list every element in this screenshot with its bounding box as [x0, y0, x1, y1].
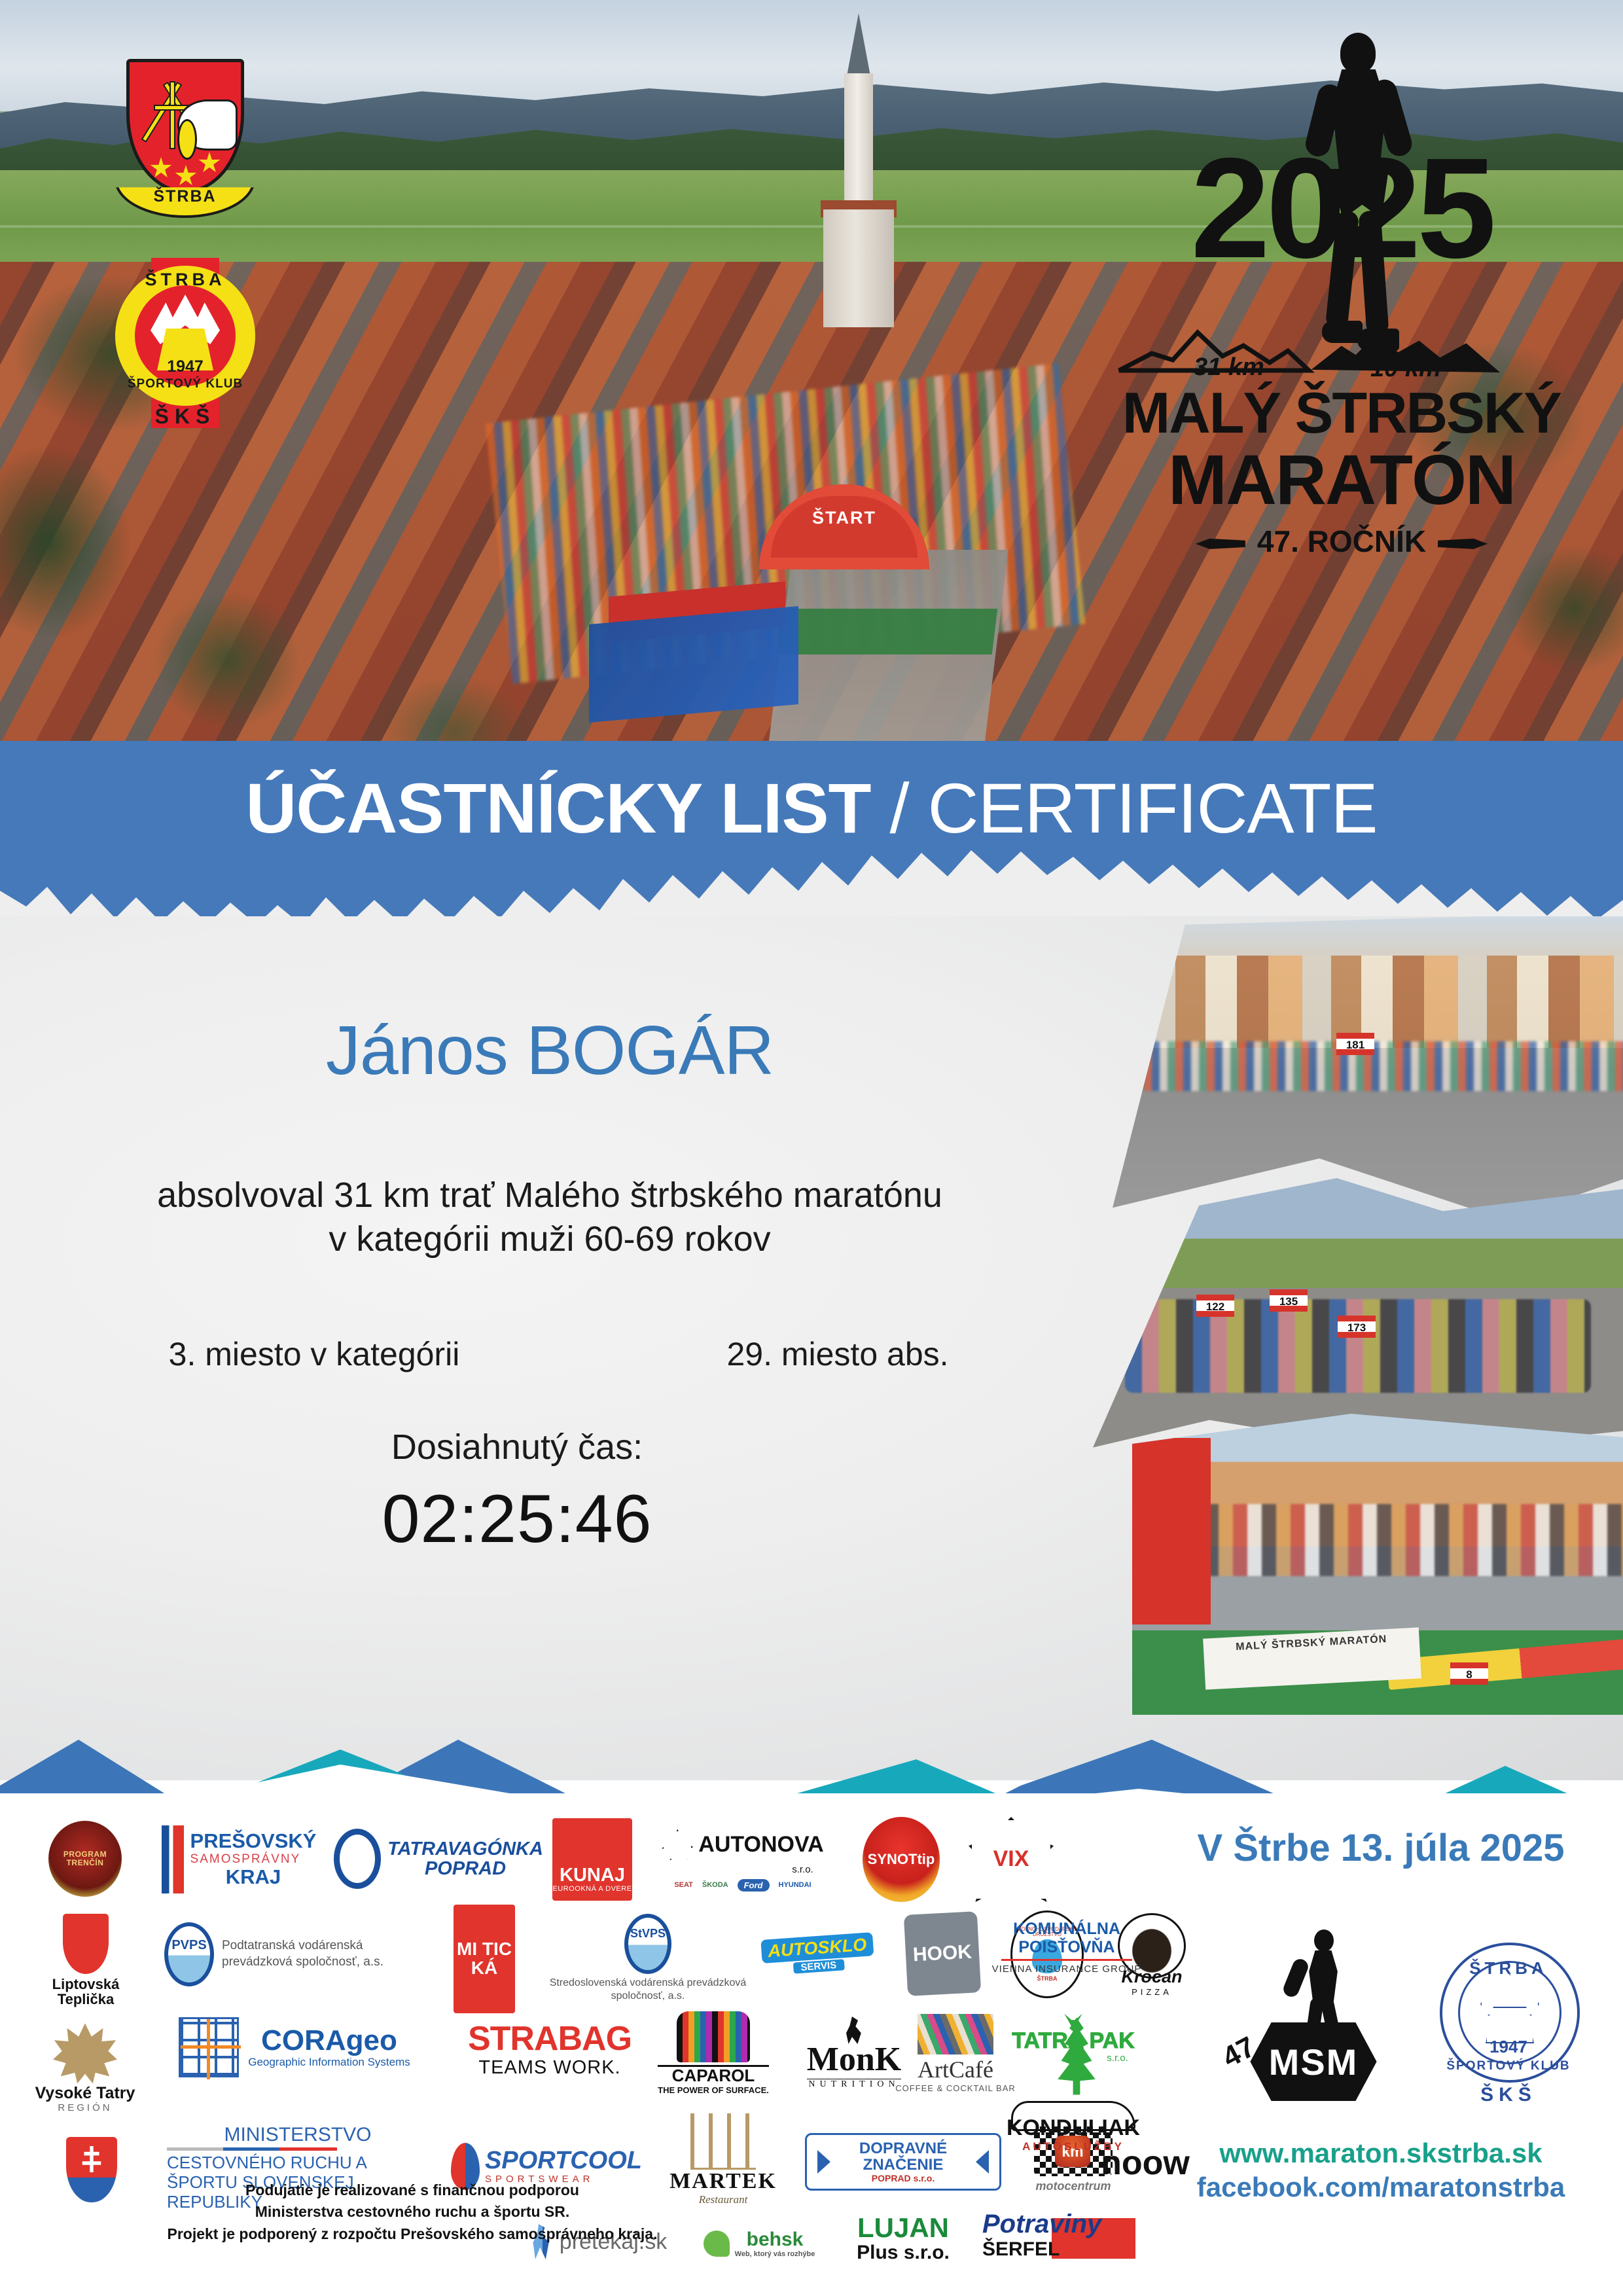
- sponsor-sub: SAMOSPRÁVNY: [190, 1852, 317, 1867]
- sponsor-name: TATRA PAK: [1012, 2030, 1135, 2053]
- sponsor-sub: Teplička: [52, 1992, 120, 2007]
- sponsor-sub: REGIÓN: [35, 2102, 135, 2113]
- sponsor-logo-hook: HOOK: [897, 1911, 988, 1996]
- bib-number: 173: [1338, 1316, 1376, 1338]
- church-spire: [847, 13, 870, 76]
- sponsor-sub: AUTOSLUŽBY: [1007, 2140, 1140, 2153]
- event-edition-label: 47. ROČNÍK: [1257, 524, 1426, 558]
- sponsor-name: KUNAJ: [560, 1865, 625, 1885]
- sponsor-name: TATRAVAGÓNKA: [387, 1839, 543, 1859]
- arrow-left-icon: [976, 2150, 989, 2174]
- arrow-right-icon: [817, 2150, 830, 2174]
- sponsor-logo-vysoke-tatry: Vysoké Tatry REGIÓN: [33, 2016, 137, 2121]
- jagged-divider-bottom: [0, 850, 1623, 925]
- title-separator: /: [870, 768, 927, 848]
- sponsor-logo-kunaj: KUNAJ EUROOKNÁ A DVERE: [550, 1817, 635, 1902]
- footer-right-column: V Štrbe 13. júla 2025 47. MSM ŠTRBA 1947…: [1178, 1800, 1597, 2284]
- sponsor-name: CAPAROL: [658, 2065, 769, 2085]
- race-photo-collage: MALÝ ŠTRBSKÝ MARATÓN 181 122 135 173 8: [1073, 916, 1623, 1780]
- sponsor-sub: EUROOKNÁ A DVERE: [552, 1885, 632, 1893]
- sponsor-name: Potraviny: [982, 2210, 1101, 2238]
- church-nave: [823, 209, 894, 327]
- event-year: 2025: [1113, 151, 1571, 268]
- sponsor-sub: Podtatranská vodárenská prevádzková spol…: [222, 1938, 412, 1970]
- sponsor-logo-pvps: PVPS Podtatranská vodárenská prevádzková…: [151, 1915, 425, 1994]
- funding-note-line-3: Projekt je podporený z rozpočtu Prešovsk…: [79, 2223, 746, 2245]
- sponsor-name: CORAgeo: [248, 2026, 410, 2056]
- event-name-line2: MARATÓN: [1113, 439, 1571, 520]
- sponsor-sub: PIZZA: [1118, 1987, 1186, 1997]
- arrow-left-icon: [1196, 539, 1245, 549]
- sponsor-sub: POPRAD s.r.o.: [837, 2173, 969, 2183]
- sponsor-name: MI TIC KÁ: [454, 1940, 515, 1977]
- sponsor-logo-tatrapak: TATRA PAK s.r.o.: [995, 2003, 1152, 2075]
- event-name-line1: MALÝ ŠTRBSKÝ: [1113, 380, 1571, 446]
- stamp-bottom-label: ŠKŠ: [1420, 2084, 1597, 2106]
- certificate-body: János BOGÁR absolvoval 31 km trať Malého…: [0, 916, 1623, 1780]
- sponsor-logo-tatravagonka: TATRAVAGÓNKA POPRAD: [340, 1821, 537, 1897]
- brand-ford: Ford: [738, 1879, 770, 1892]
- sponsor-name: KOMUNÁLNA POISŤOVŇA: [982, 1920, 1152, 1956]
- sponsor-sub: s.r.o.: [1012, 2053, 1135, 2064]
- bib-number: 181: [1336, 1033, 1374, 1055]
- event-date: V Štrbe 13. júla 2025: [1178, 1826, 1584, 1870]
- ministry-rule: [167, 2147, 337, 2151]
- event-edition-row: 47. ROČNÍK: [1113, 524, 1571, 559]
- sponsor-sub: Geographic Information Systems: [248, 2056, 410, 2069]
- brand-skoda: ŠKODA: [702, 1881, 728, 1889]
- crest-cuff-icon: [177, 119, 197, 160]
- brand-hyundai: HYUNDAI: [779, 1881, 811, 1889]
- sponsor-logo-lujan-plus: LUJAN Plus s.r.o.: [844, 2206, 962, 2271]
- sponsor-sub: Plus s.r.o.: [857, 2242, 950, 2263]
- sponsor-logo-potraviny-serfel: Potraviny ŠERFEL: [975, 2206, 1139, 2271]
- sponsor-logo-corageo: CORAgeo Geographic Information Systems: [151, 2008, 438, 2087]
- corageo-grid-icon: [179, 2017, 239, 2077]
- sponsor-logo-autosklo-servis: AUTOSKLO SERVIS: [753, 1915, 883, 1994]
- artcafe-stripes-icon: [918, 2014, 993, 2054]
- sponsor-sub: VIENNA INSURANCE GROUP: [982, 1964, 1152, 1975]
- sponsor-name: DOPRAVNÉ ZNAČENIE: [837, 2140, 969, 2173]
- stamp-top-label: ŠTRBA: [1420, 1958, 1597, 1979]
- funding-note-line-1: Podujatie je realizované s finančnou pod…: [79, 2179, 746, 2201]
- sponsor-logo-presovsky-kraj: PREŠOVSKÝ SAMOSPRÁVNY KRAJ: [151, 1818, 327, 1901]
- stamp-year-label: 1947: [1420, 2037, 1597, 2057]
- sponsor-sub: Web, ktorý vás rozhýbe: [735, 2250, 815, 2258]
- arrow-right-icon: [1438, 539, 1488, 549]
- sponsor-sub: POPRAD: [387, 1859, 543, 1878]
- kp-rule: [1001, 1959, 1132, 1961]
- cutlery-icon: [690, 2113, 756, 2170]
- sponsor-logo-strabag: STRABAG TEAMS WORK.: [458, 2011, 641, 2089]
- start-arch-label: ŠTART: [812, 508, 876, 528]
- distance-long-label: 31 km: [1194, 353, 1264, 382]
- category-place: 3. miesto v kategórii: [111, 1335, 517, 1373]
- sks-abbrev-label: ŠKŠ: [103, 404, 267, 429]
- sponsor-name: PVPS: [171, 1938, 206, 1953]
- finish-time-value: 02:25:46: [0, 1480, 1034, 1558]
- sponsor-name: AUTOSKLO: [761, 1932, 874, 1964]
- sponsor-sub: SERVIS: [793, 1960, 845, 1974]
- distance-mountains: 31 km 10 km: [1113, 308, 1571, 386]
- title-slovak: ÚČASTNÍCKY LIST: [245, 768, 870, 848]
- facebook-link[interactable]: facebook.com/maratonstrba: [1178, 2172, 1584, 2203]
- gift-bow-icon: [1058, 2014, 1088, 2030]
- sponsor-logo-caparol: CAPAROL THE POWER OF SURFACE.: [654, 2004, 772, 2102]
- sponsor-name: StVPS: [628, 1927, 668, 1941]
- sponsor-name: LUJAN: [857, 2214, 950, 2242]
- sponsor-name: KONDULIAK: [1007, 2117, 1140, 2140]
- funding-note-line-2: Ministerstva cestovného ruchu a športu S…: [79, 2201, 746, 2223]
- sks-year-label: 1947: [103, 357, 267, 376]
- mountain-range-icon: [1113, 308, 1571, 386]
- sponsor-logo-miticka: MI TIC KÁ: [445, 1903, 524, 2015]
- sponsor-name: SPORTCOOL: [485, 2148, 642, 2174]
- certificate-title-band: ÚČASTNÍCKY LIST / CERTIFICATE: [0, 741, 1623, 924]
- edelweiss-icon: [53, 2023, 117, 2083]
- sponsor-logo-komunalna-poistovna: KOMUNÁLNA POISŤOVŇA VIENNA INSURANCE GRO…: [982, 1911, 1152, 1983]
- stamp-mid-label: ŠPORTOVÝ KLUB: [1420, 2059, 1597, 2073]
- achievement-line-2: v kategórii muži 60-69 rokov: [0, 1219, 1099, 1259]
- sponsor-sub: s.r.o.: [662, 1864, 823, 1875]
- region-flag-icon: [162, 1825, 184, 1893]
- sponsor-name: Vysoké Tatry: [35, 2085, 135, 2102]
- bib-number: 135: [1270, 1289, 1308, 1312]
- footer: PROGRAM TRENČÍN PREŠOVSKÝ SAMOSPRÁVNY KR…: [0, 1793, 1623, 2296]
- website-link[interactable]: www.maraton.skstrba.sk: [1178, 2138, 1584, 2169]
- sponsor-sub: ŠERFEL: [982, 2239, 1060, 2260]
- green-mat: [776, 609, 998, 655]
- funding-note: Podujatie je realizované s finančnou pod…: [79, 2179, 746, 2245]
- sks-ink-stamp: ŠTRBA 1947 ŠPORTOVÝ KLUB ŠKŠ: [1420, 1924, 1597, 2121]
- slovak-cross-icon: [80, 2146, 103, 2172]
- sponsor-name: STRABAG: [468, 2021, 632, 2057]
- distance-short-label: 10 km: [1370, 355, 1441, 383]
- photo-finish-celebration: [1113, 916, 1623, 1220]
- sponsor-name: SYNOTtip: [868, 1852, 935, 1867]
- sks-top-label: ŠTRBA: [103, 270, 267, 290]
- sponsor-sub: THE POWER OF SURFACE.: [658, 2085, 769, 2095]
- tatravagonka-ellipse-icon: [334, 1829, 381, 1889]
- crest-ribbon-label: ŠTRBA: [115, 187, 255, 206]
- sponsor-name: PROGRAM TRENČÍN: [48, 1850, 122, 1867]
- church-building: [818, 13, 897, 321]
- sponsor-sub: Stredoslovenská vodárenská prevádzková s…: [543, 1977, 753, 2003]
- title-english: CERTIFICATE: [928, 768, 1378, 848]
- liptovska-crest-icon: [63, 1914, 109, 1974]
- sponsor-name: Liptovská: [52, 1977, 120, 1992]
- bib-number: 8: [1450, 1662, 1488, 1685]
- caparol-elephant-icon: [677, 2011, 750, 2062]
- sponsor-logo-dopravne-znacenie: DOPRAVNÉ ZNAČENIE POPRAD s.r.o.: [805, 2126, 1001, 2198]
- sponsor-logo-konduliak: KONDULIAK AUTOSLUŽBY: [995, 2088, 1152, 2166]
- sponsor-name: VIX: [993, 1848, 1029, 1871]
- starburst-icon: [662, 1829, 693, 1861]
- sponsor-logo-vix: VIX: [962, 1816, 1060, 1903]
- sponsor-sub2: KRAJ: [190, 1867, 317, 1888]
- msm-stamp-logo: 47. MSM: [1219, 1924, 1402, 2121]
- msm-abbrev-label: MSM: [1238, 2041, 1389, 2083]
- time-label: Dosiahnutý čas:: [0, 1427, 1034, 1467]
- sks-bottom-label: ŠPORTOVÝ KLUB: [103, 377, 267, 391]
- sponsor-name: AUTONOVA: [698, 1833, 823, 1857]
- brand-seat: SEAT: [674, 1881, 693, 1889]
- hero-photo-banner: ŠTART ŠTRBA ŠTRBA 1947 ŠPORTOVÝ KLUB ŠKŠ: [0, 0, 1623, 772]
- sponsor-name: MINISTERSTVO: [167, 2125, 429, 2145]
- marathon-logo-lockup: 2025 31 km 10 km MALÝ ŠTRBSKÝ MARATÓN 47…: [1113, 26, 1571, 576]
- certificate-title: ÚČASTNÍCKY LIST / CERTIFICATE: [0, 767, 1623, 849]
- sponsor-name: HOOK: [912, 1942, 972, 1965]
- absolute-place: 29. miesto abs.: [654, 1335, 1021, 1373]
- sponsor-logo-grid: PROGRAM TRENČÍN PREŠOVSKÝ SAMOSPRÁVNY KR…: [26, 1800, 1158, 2232]
- sponsor-name: PREŠOVSKÝ: [190, 1831, 317, 1852]
- sponsor-logo-liptovska-teplicka: Liptovská Teplička: [37, 1911, 135, 2009]
- achievement-line-1: absolvoval 31 km trať Malého štrbského m…: [0, 1175, 1099, 1215]
- sponsor-logo-synottip: SYNOTtip: [852, 1816, 950, 1903]
- sponsor-sub: TEAMS WORK.: [468, 2057, 632, 2079]
- sponsor-logo-autonova: AUTONOVA s.r.o. SEAT ŠKODA Ford HYUNDAI: [648, 1814, 838, 1906]
- sponsor-logo-program-trencin: PROGRAM TRENČÍN: [33, 1820, 137, 1898]
- strba-coat-of-arms: ŠTRBA: [115, 59, 255, 229]
- race-road: [765, 550, 1008, 772]
- sponsor-logo-stvps: StVPS Stredoslovenská vodárenská prevádz…: [543, 1912, 753, 2004]
- blue-tent: [589, 606, 798, 723]
- sponsor-name: behsk: [735, 2229, 815, 2250]
- bib-number: 122: [1196, 1295, 1234, 1317]
- participant-name: János BOGÁR: [0, 1011, 1099, 1090]
- sks-club-logo: ŠTRBA 1947 ŠPORTOVÝ KLUB ŠKŠ: [103, 242, 267, 439]
